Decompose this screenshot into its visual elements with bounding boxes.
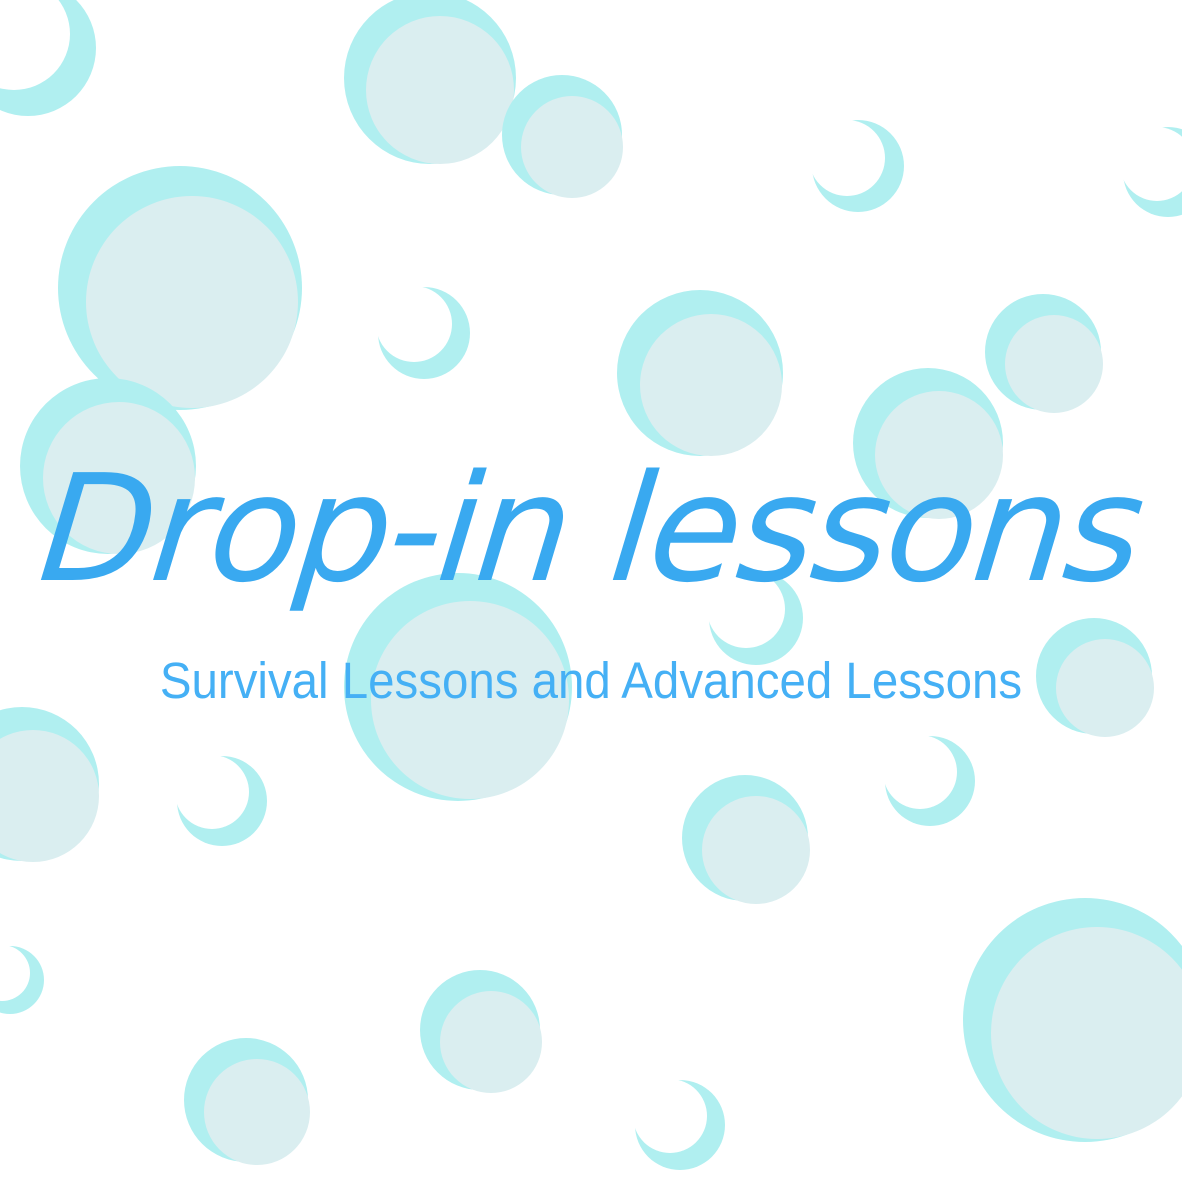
page-subtitle: Survival Lessons and Advanced Lessons [41, 655, 1140, 706]
poster-text-block: Drop-in lessons Survival Lessons and Adv… [0, 0, 1182, 1182]
page-title: Drop-in lessons [0, 455, 1182, 603]
poster-canvas: Drop-in lessons Survival Lessons and Adv… [0, 0, 1182, 1182]
